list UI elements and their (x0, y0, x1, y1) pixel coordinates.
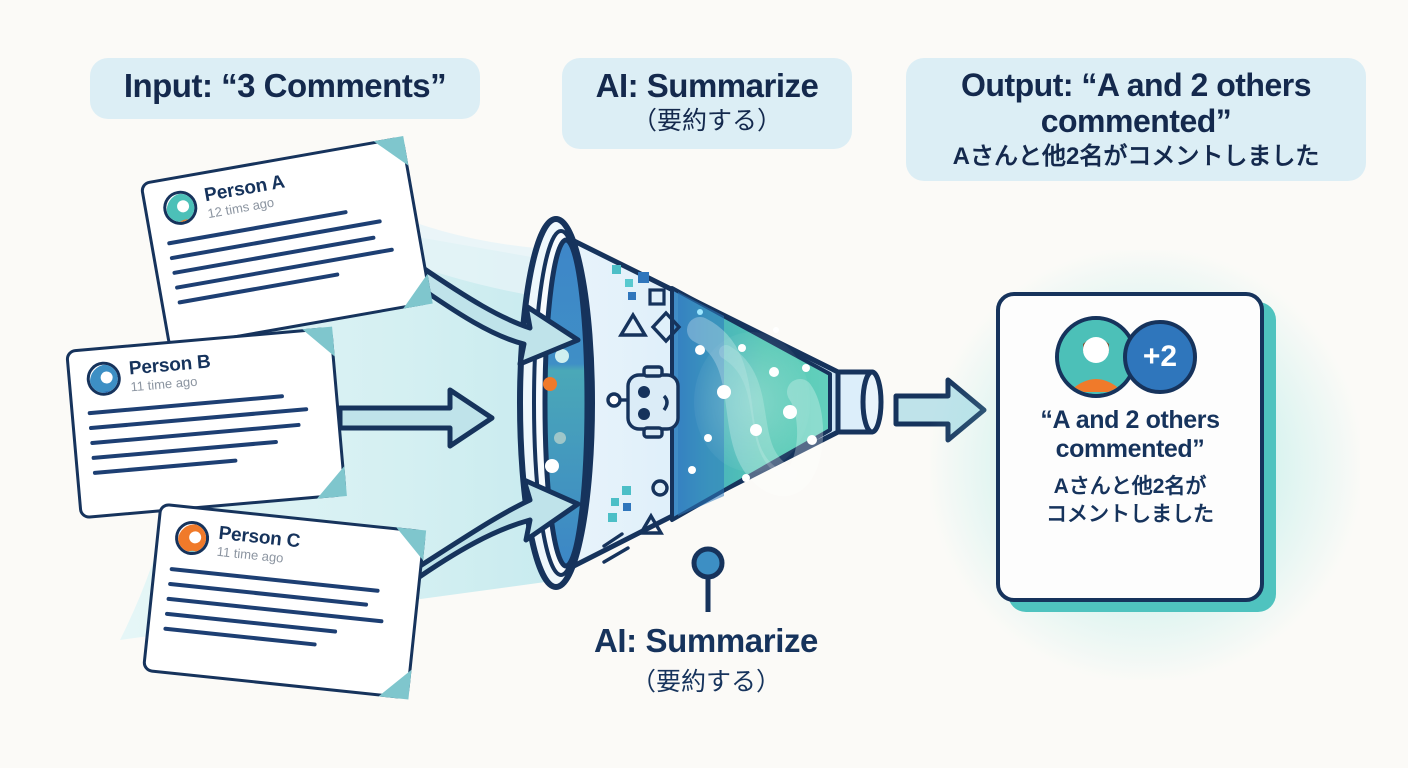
funnel-caption: AI: Summarize （要約する） (560, 622, 852, 698)
card-header: Person A 12 tims ago (161, 172, 289, 228)
diagram-canvas: Input: “3 Comments” AI: Summarize （要約する）… (0, 0, 1408, 768)
folded-corner-icon (379, 667, 412, 700)
folded-corner-icon (374, 136, 409, 171)
label-input-text: Input: “3 Comments” (112, 68, 458, 105)
card-header: Person B 11 time ago (85, 352, 212, 397)
label-output-en-1: Output: “A and 2 others (928, 68, 1344, 104)
avatar (161, 188, 200, 227)
funnel-caption-en: AI: Summarize (560, 622, 852, 660)
comment-card[interactable]: Person C 11 time ago (142, 502, 426, 699)
comment-card[interactable]: Person B 11 time ago (65, 327, 347, 520)
label-output-en-2: commented” (928, 104, 1344, 140)
label-input: Input: “3 Comments” (90, 58, 480, 119)
label-ai-en: AI: Summarize (584, 68, 830, 105)
folded-corner-icon (398, 274, 433, 309)
label-ai-jp: （要約する） (584, 107, 830, 135)
label-output: Output: “A and 2 others commented” Aさんと他… (906, 58, 1366, 181)
label-output-jp: Aさんと他2名がコメントしました (928, 144, 1344, 171)
output-quote-line-1: “A and 2 others (1030, 406, 1229, 435)
avatar (173, 520, 210, 557)
extra-count-badge: +2 (1123, 320, 1197, 394)
folded-corner-icon (302, 327, 335, 360)
folded-corner-icon (393, 527, 426, 560)
funnel-caption-jp: （要約する） (560, 662, 852, 698)
ai-funnel (520, 219, 881, 612)
avatar-group: +2 (1047, 312, 1213, 398)
card-body-lines (88, 391, 328, 486)
card-body-lines (162, 567, 403, 666)
card-header: Person C 11 time ago (173, 519, 301, 566)
output-quote-line-2: commented” (1046, 435, 1215, 464)
output-jp-line-2: コメントしました (1032, 502, 1228, 528)
avatar (85, 361, 122, 398)
output-card[interactable]: +2 “A and 2 others commented” Aさんと他2名が コ… (996, 292, 1264, 602)
output-jp-line-1: Aさんと他2名が (1040, 474, 1221, 500)
label-ai-summarize: AI: Summarize （要約する） (562, 58, 852, 149)
funnel-pin (694, 549, 722, 612)
folded-corner-icon (314, 466, 347, 499)
